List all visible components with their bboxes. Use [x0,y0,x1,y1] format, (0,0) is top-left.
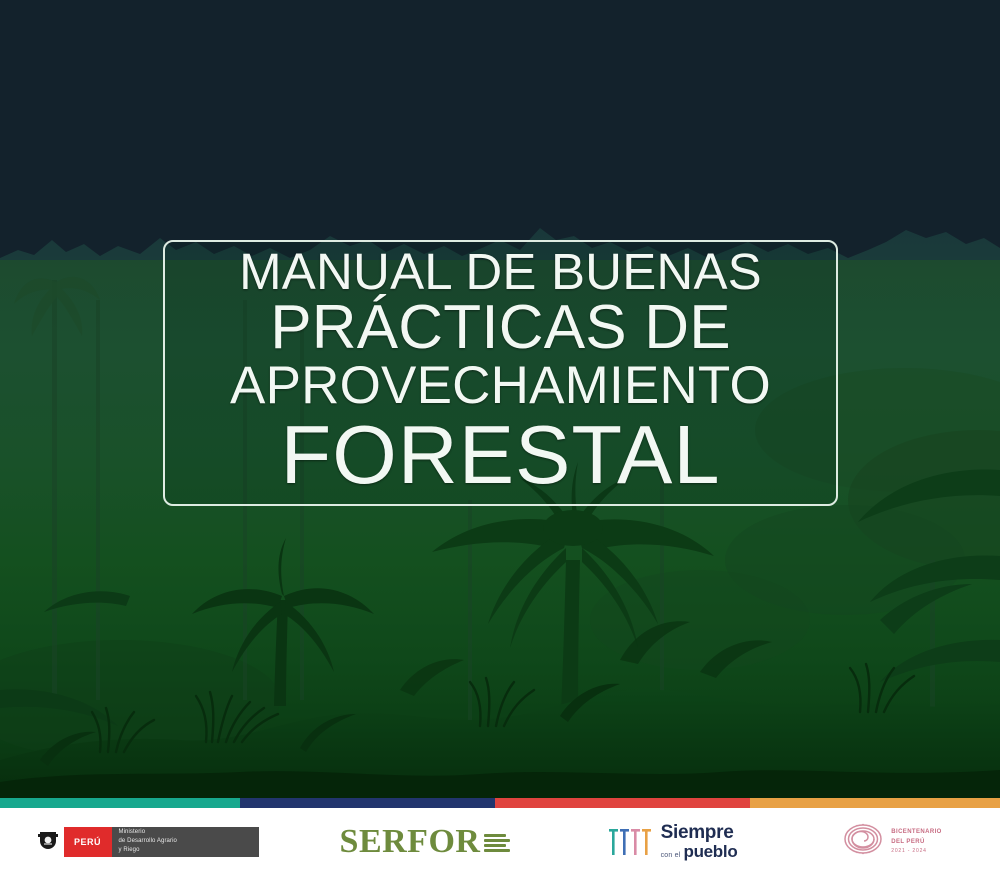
cover-page: MANUAL DE BUENAS PRÁCTICAS DE APROVECHAM… [0,0,1000,875]
siempre-bars-icon [608,828,654,856]
foreground-dark-band [0,770,1000,800]
strip-segment-navy [240,798,495,808]
midagri-ministry-name: Ministerio de Desarrollo Agrario y Riego [112,827,259,857]
strip-segment-teal [0,798,240,808]
brand-color-strip [0,798,1000,808]
bicentenario-spiral-icon [843,823,883,860]
title-line-2: PRÁCTICAS DE [270,298,731,359]
logo-siempre-con-el-pueblo: Siempre con el pueblo [560,808,785,875]
strip-segment-red [495,798,750,808]
logo-bicentenario: BICENTENARIO DEL PERÚ 2021 - 2024 [785,808,1000,875]
siempre-sub-big: pueblo [683,843,737,860]
peru-escudo-icon [32,827,64,857]
title-line-3: APROVECHAMIENTO [230,360,771,412]
siempre-main-text: Siempre [661,823,738,842]
peru-wordmark: PERÚ [64,827,112,857]
serfor-wordmark: SERFOR [340,825,481,859]
midagri-name-line-2: de Desarrollo Agrario [119,837,251,846]
title-line-1: MANUAL DE BUENAS [239,247,762,297]
distant-treeline [0,0,1000,258]
footer-logo-bar: PERÚ Ministerio de Desarrollo Agrario y … [0,808,1000,875]
title-line-4: FORESTAL [281,414,721,495]
logo-serfor: SERFOR [290,808,560,875]
siempre-sub-small: con el [661,852,681,859]
title-plate: MANUAL DE BUENAS PRÁCTICAS DE APROVECHAM… [163,240,838,506]
bicentenario-line-3: 2021 - 2024 [891,848,941,855]
logo-midagri: PERÚ Ministerio de Desarrollo Agrario y … [0,808,290,875]
midagri-name-line-3: y Riego [119,846,251,855]
strip-segment-orange [750,798,1000,808]
serfor-stripes-icon [484,832,510,852]
midagri-name-line-1: Ministerio [119,828,251,837]
bicentenario-line-1: BICENTENARIO [891,828,941,836]
bicentenario-line-2: DEL PERÚ [891,838,941,846]
